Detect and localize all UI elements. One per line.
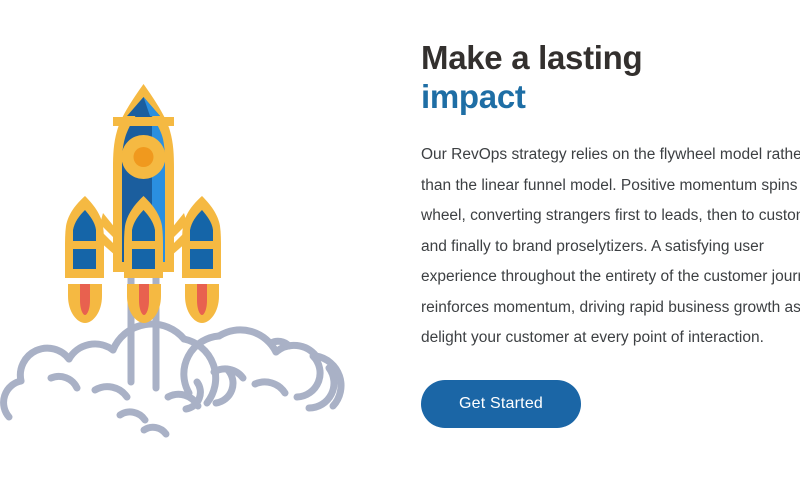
illustration-column [0, 0, 400, 480]
cta-row: Get Started [421, 380, 800, 428]
page-title: Make a lasting impact [421, 38, 800, 116]
center-booster-window-lower [132, 249, 155, 269]
rocket-window-center [134, 147, 154, 167]
left-flame-inner [80, 284, 90, 315]
center-flame-inner [139, 284, 149, 315]
rocket-nose-separator [113, 117, 174, 126]
rocket-launch-icon [0, 0, 400, 480]
hero-section: Make a lasting impact Our RevOps strateg… [0, 0, 800, 480]
get-started-button[interactable]: Get Started [421, 380, 581, 428]
headline-line-1: Make a lasting [421, 39, 642, 76]
content-column: Make a lasting impact Our RevOps strateg… [400, 0, 800, 480]
smoke-cloud-group [4, 324, 341, 434]
rocket-right-booster [182, 196, 221, 278]
left-booster-window-lower [73, 249, 96, 269]
right-booster-window-lower [190, 249, 213, 269]
rocket-flames-group [68, 284, 219, 323]
right-flame-inner [197, 284, 207, 315]
body-paragraph: Our RevOps strategy relies on the flywhe… [421, 140, 800, 354]
headline-line-2-accent: impact [421, 77, 800, 116]
rocket-left-booster [65, 196, 104, 278]
